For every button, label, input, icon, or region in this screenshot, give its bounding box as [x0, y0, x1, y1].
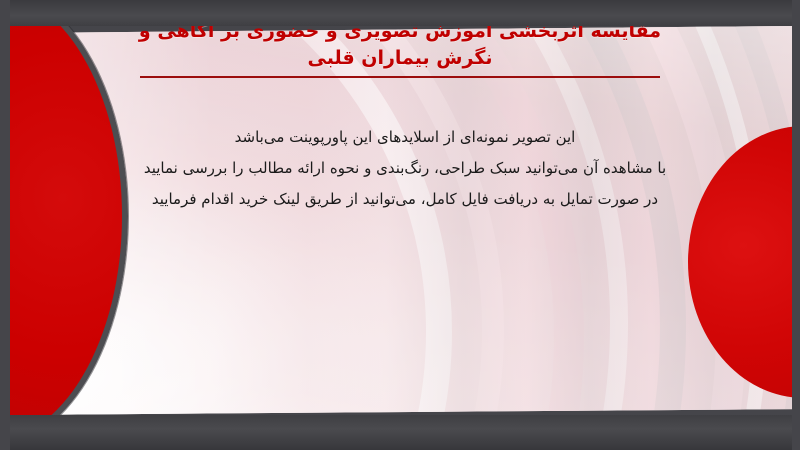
- slide-frame-right: [792, 0, 800, 450]
- slide-title-line-2: نگرش بیماران قلبی: [130, 45, 670, 72]
- slide-frame-left: [0, 0, 10, 450]
- slide-title: مقایسه اثربخشی آموزش تصویری و حضوری بر آ…: [130, 18, 670, 72]
- body-line: در صورت تمایل به دریافت فایل کامل، می‌تو…: [120, 184, 690, 215]
- body-line: این تصویر نمونه‌ای از اسلایدهای این پاور…: [120, 122, 690, 153]
- presentation-slide: مقایسه اثربخشی آموزش تصویری و حضوری بر آ…: [0, 0, 800, 450]
- slide-frame-top: [0, 0, 800, 26]
- slide-frame-bottom: [0, 415, 800, 450]
- body-line: با مشاهده آن می‌توانید سبک طراحی، رنگ‌بن…: [120, 153, 690, 184]
- slide-body-text: این تصویر نمونه‌ای از اسلایدهای این پاور…: [120, 122, 690, 214]
- title-underline-rule: [140, 76, 660, 78]
